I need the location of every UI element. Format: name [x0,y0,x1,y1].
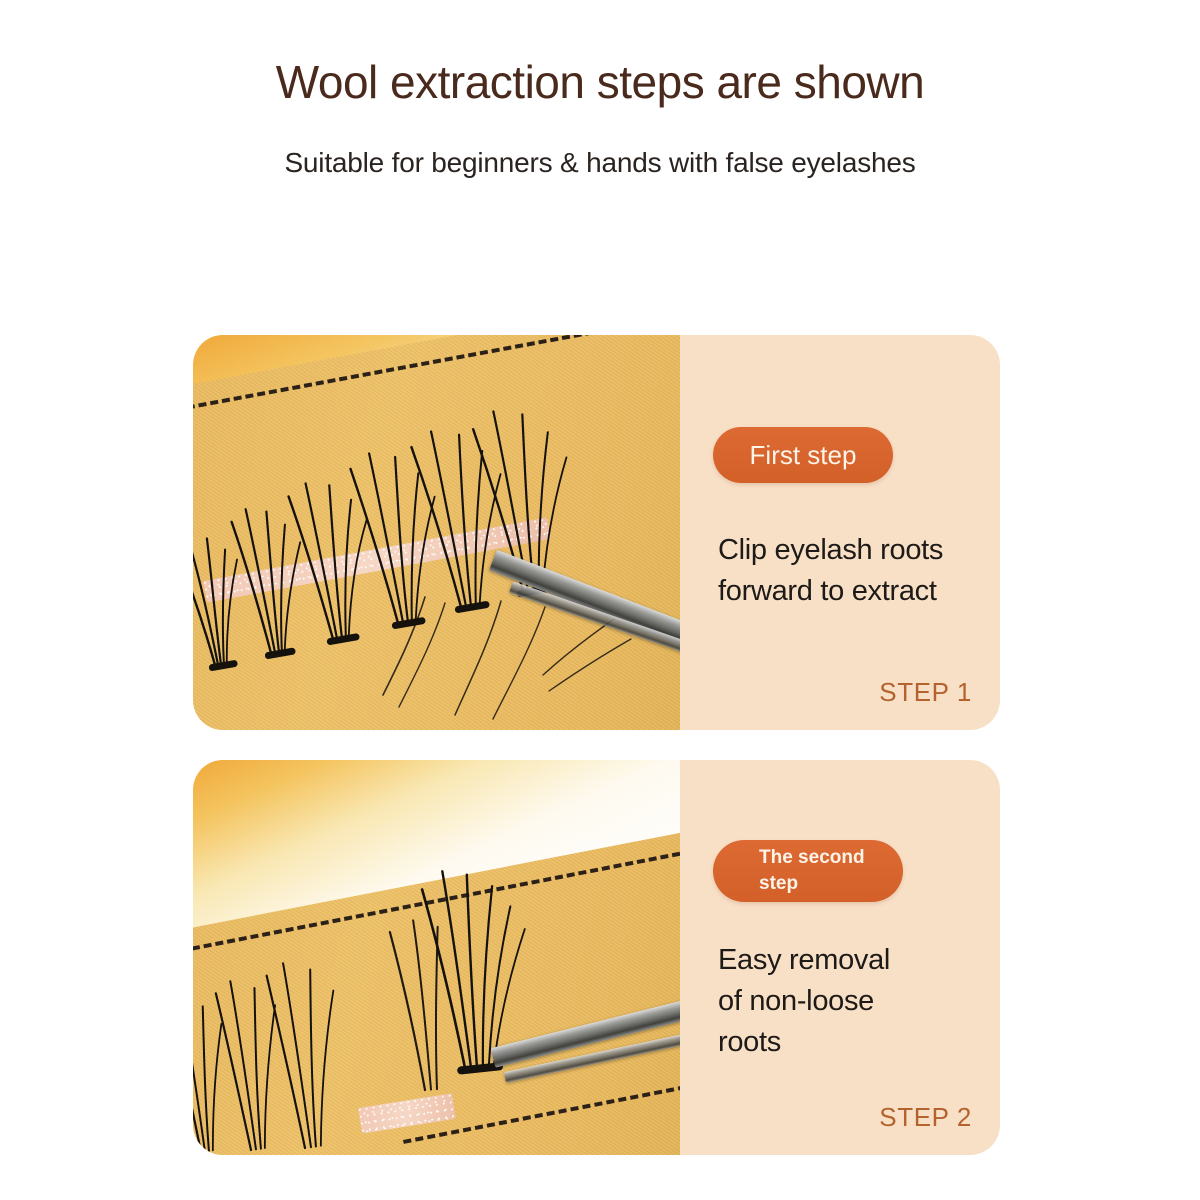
page-subtitle: Suitable for beginners & hands with fals… [0,109,1200,179]
step-1-badge: First step [713,427,893,483]
eyelash-clusters-icon [193,335,680,730]
step-card-2: The second step Easy removal of non-loos… [193,760,1000,1155]
page-header: Wool extraction steps are shown Suitable… [0,0,1200,179]
step-2-number-label: STEP 2 [879,1102,972,1133]
step-1-photo [193,335,680,730]
step-2-photo [193,760,680,1155]
step-2-badge: The second step [713,840,903,902]
eyelash-clusters-icon [193,760,680,1155]
step-card-1: First step Clip eyelash roots forward to… [193,335,1000,730]
step-1-description: Clip eyelash roots forward to extract [718,530,943,612]
step-2-info-panel: The second step Easy removal of non-loos… [680,760,1000,1155]
step-1-info-panel: First step Clip eyelash roots forward to… [680,335,1000,730]
step-2-description: Easy removal of non-loose roots [718,940,890,1064]
step-1-number-label: STEP 1 [879,677,972,708]
page-title: Wool extraction steps are shown [0,0,1200,109]
